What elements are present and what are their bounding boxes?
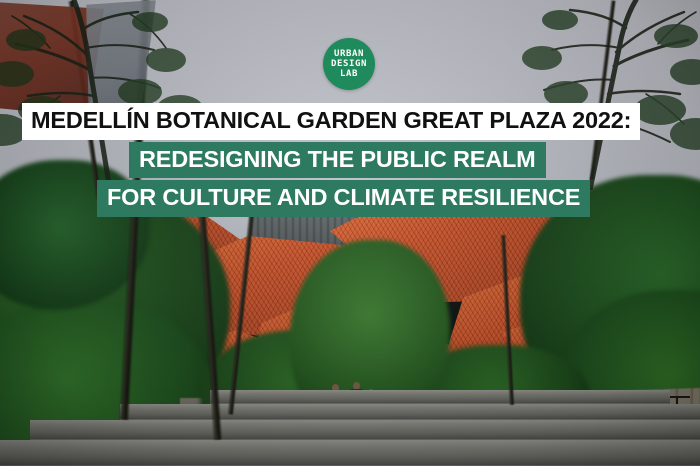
logo-line-urban: URBAN xyxy=(334,50,364,59)
title-line-3-row: FOR CULTURE AND CLIMATE RESILIENCE xyxy=(0,180,700,217)
title-line-1-row: MEDELLÍN BOTANICAL GARDEN GREAT PLAZA 20… xyxy=(0,103,700,140)
step xyxy=(30,420,700,440)
title-line-2-row: REDESIGNING THE PUBLIC REALM xyxy=(0,142,700,179)
step xyxy=(210,390,670,404)
urban-design-lab-logo[interactable]: URBAN DESIGN LAB xyxy=(323,38,375,90)
title-line-1: MEDELLÍN BOTANICAL GARDEN GREAT PLAZA 20… xyxy=(22,103,640,140)
logo-line-lab: LAB xyxy=(340,70,358,79)
step xyxy=(0,440,700,466)
poster-title: MEDELLÍN BOTANICAL GARDEN GREAT PLAZA 20… xyxy=(0,103,700,217)
stone-steps xyxy=(0,386,700,466)
title-line-2: REDESIGNING THE PUBLIC REALM xyxy=(129,142,546,179)
title-line-3: FOR CULTURE AND CLIMATE RESILIENCE xyxy=(97,180,590,217)
step xyxy=(120,404,700,420)
logo-line-design: DESIGN xyxy=(331,60,367,69)
poster: URBAN DESIGN LAB MEDELLÍN BOTANICAL GARD… xyxy=(0,0,700,466)
